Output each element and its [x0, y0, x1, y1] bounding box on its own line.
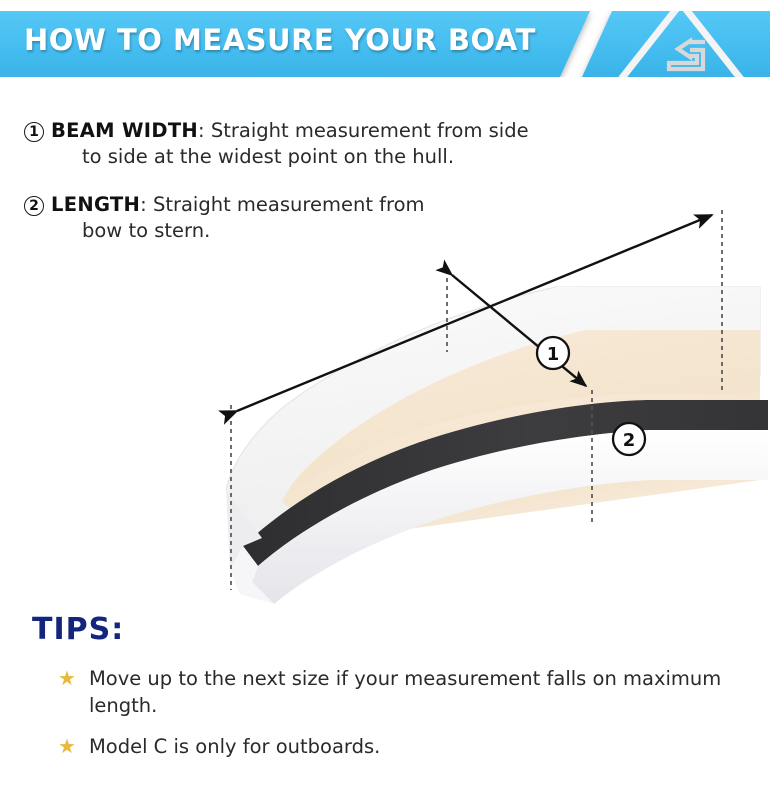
definition-text-line-1: Straight measurement from side	[211, 119, 529, 142]
tip-item: ★ Model C is only for outboards.	[0, 733, 770, 760]
star-icon: ★	[58, 733, 76, 760]
boat-measurement-diagram: 2 1	[0, 190, 770, 610]
definition-separator: :	[198, 119, 205, 142]
triangle-logo-icon	[582, 11, 770, 77]
definition-term-beam-width: BEAM WIDTH	[51, 119, 198, 142]
definition-beam-width: 1BEAM WIDTH: Straight measurement from s…	[0, 118, 770, 170]
tip-text: Move up to the next size if your measure…	[89, 665, 739, 719]
length-callout-label: 2	[623, 430, 636, 451]
boat-illustration	[226, 287, 768, 604]
page-title: HOW TO MEASURE YOUR BOAT	[24, 23, 536, 57]
tip-item: ★ Move up to the next size if your measu…	[0, 665, 770, 719]
tips-section: TIPS: ★ Move up to the next size if your…	[0, 612, 770, 774]
tip-text: Model C is only for outboards.	[89, 733, 380, 760]
beam-callout-label: 1	[547, 344, 560, 365]
definition-text-line-2: to side at the widest point on the hull.	[0, 144, 770, 170]
star-icon: ★	[58, 665, 76, 692]
callout-number-1: 1	[24, 122, 44, 142]
tips-heading: TIPS:	[0, 612, 770, 647]
